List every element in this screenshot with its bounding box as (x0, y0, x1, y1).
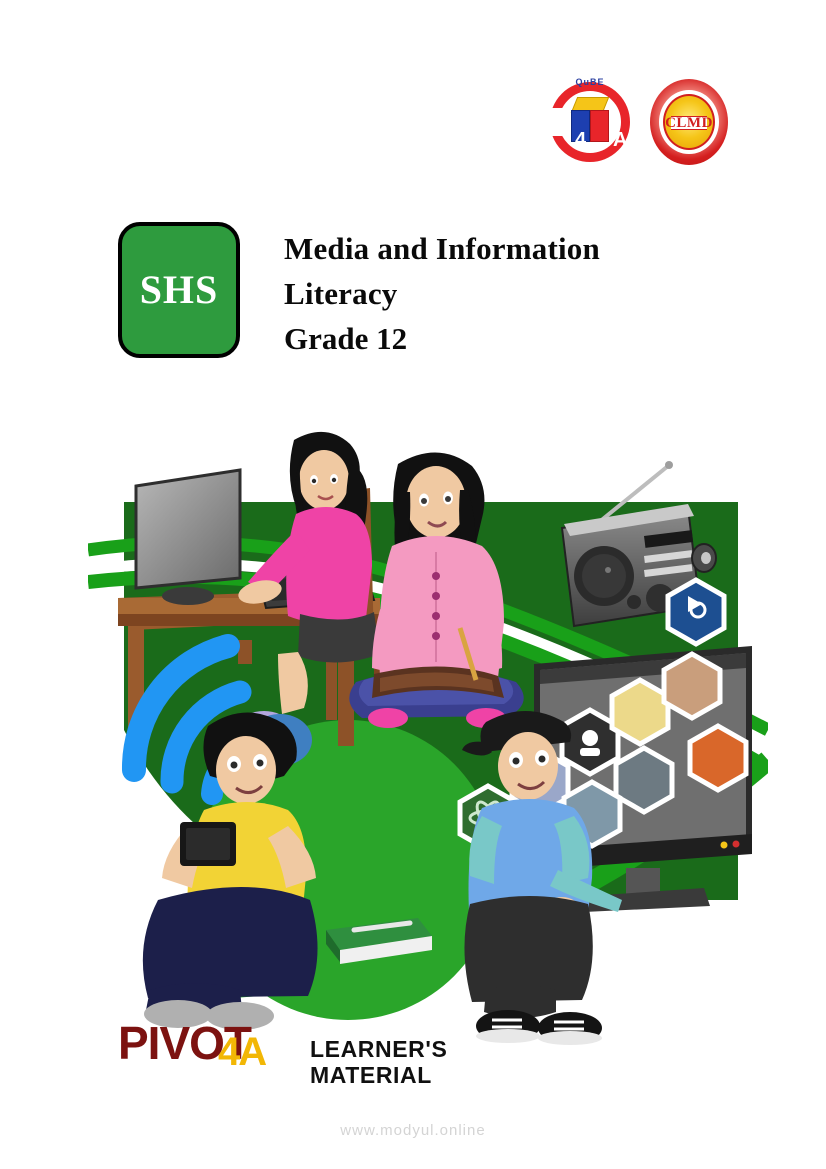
qube-4a-logo: QuBE 4 A (548, 80, 632, 164)
clmd-label: CLMD (665, 115, 713, 131)
qube-cube-left: 4 (571, 110, 590, 142)
qube-cube-icon: 4 A (570, 97, 610, 145)
title-line-1: Media and Information (284, 226, 744, 271)
title-grade-level: Grade 12 (284, 316, 744, 361)
title-line-2: Literacy (284, 271, 744, 316)
pivot-4a-footer-logo: PIVOT 4A LEARNER'S MATERIAL (118, 1018, 568, 1074)
shs-badge-label: SHS (140, 270, 219, 310)
page-title: Media and Information Literacy Grade 12 (284, 226, 744, 361)
title-block: SHS Media and Information Literacy Grade… (118, 222, 738, 364)
cover-page: QuBE 4 A CLMD (0, 0, 826, 1169)
clmd-text-band: CLMD (671, 116, 707, 130)
clmd-logo: CLMD (650, 79, 728, 165)
site-watermark: www.modyul.online (0, 1122, 826, 1140)
qube-digit-4: 4 (575, 126, 586, 154)
shs-badge: SHS (118, 222, 240, 358)
qube-wordmark: QuBE (548, 78, 632, 87)
media-literacy-cover-illustration (88, 430, 768, 1090)
microscope-tile (616, 748, 672, 812)
qube-cube-right: A (590, 110, 609, 142)
learners-material-label: LEARNER'S MATERIAL (310, 1036, 568, 1088)
reading-hands-tile (664, 654, 720, 718)
pivot-4a-text: 4A (218, 1032, 265, 1072)
illustration-svg (88, 430, 768, 1090)
qube-letter-a: A (613, 126, 627, 154)
market-tile (612, 680, 668, 744)
podcast-tile (668, 580, 724, 644)
logo-row: QuBE 4 A CLMD (548, 78, 748, 166)
megaphone-tile (690, 726, 746, 790)
clmd-inner-disc: CLMD (663, 94, 715, 150)
